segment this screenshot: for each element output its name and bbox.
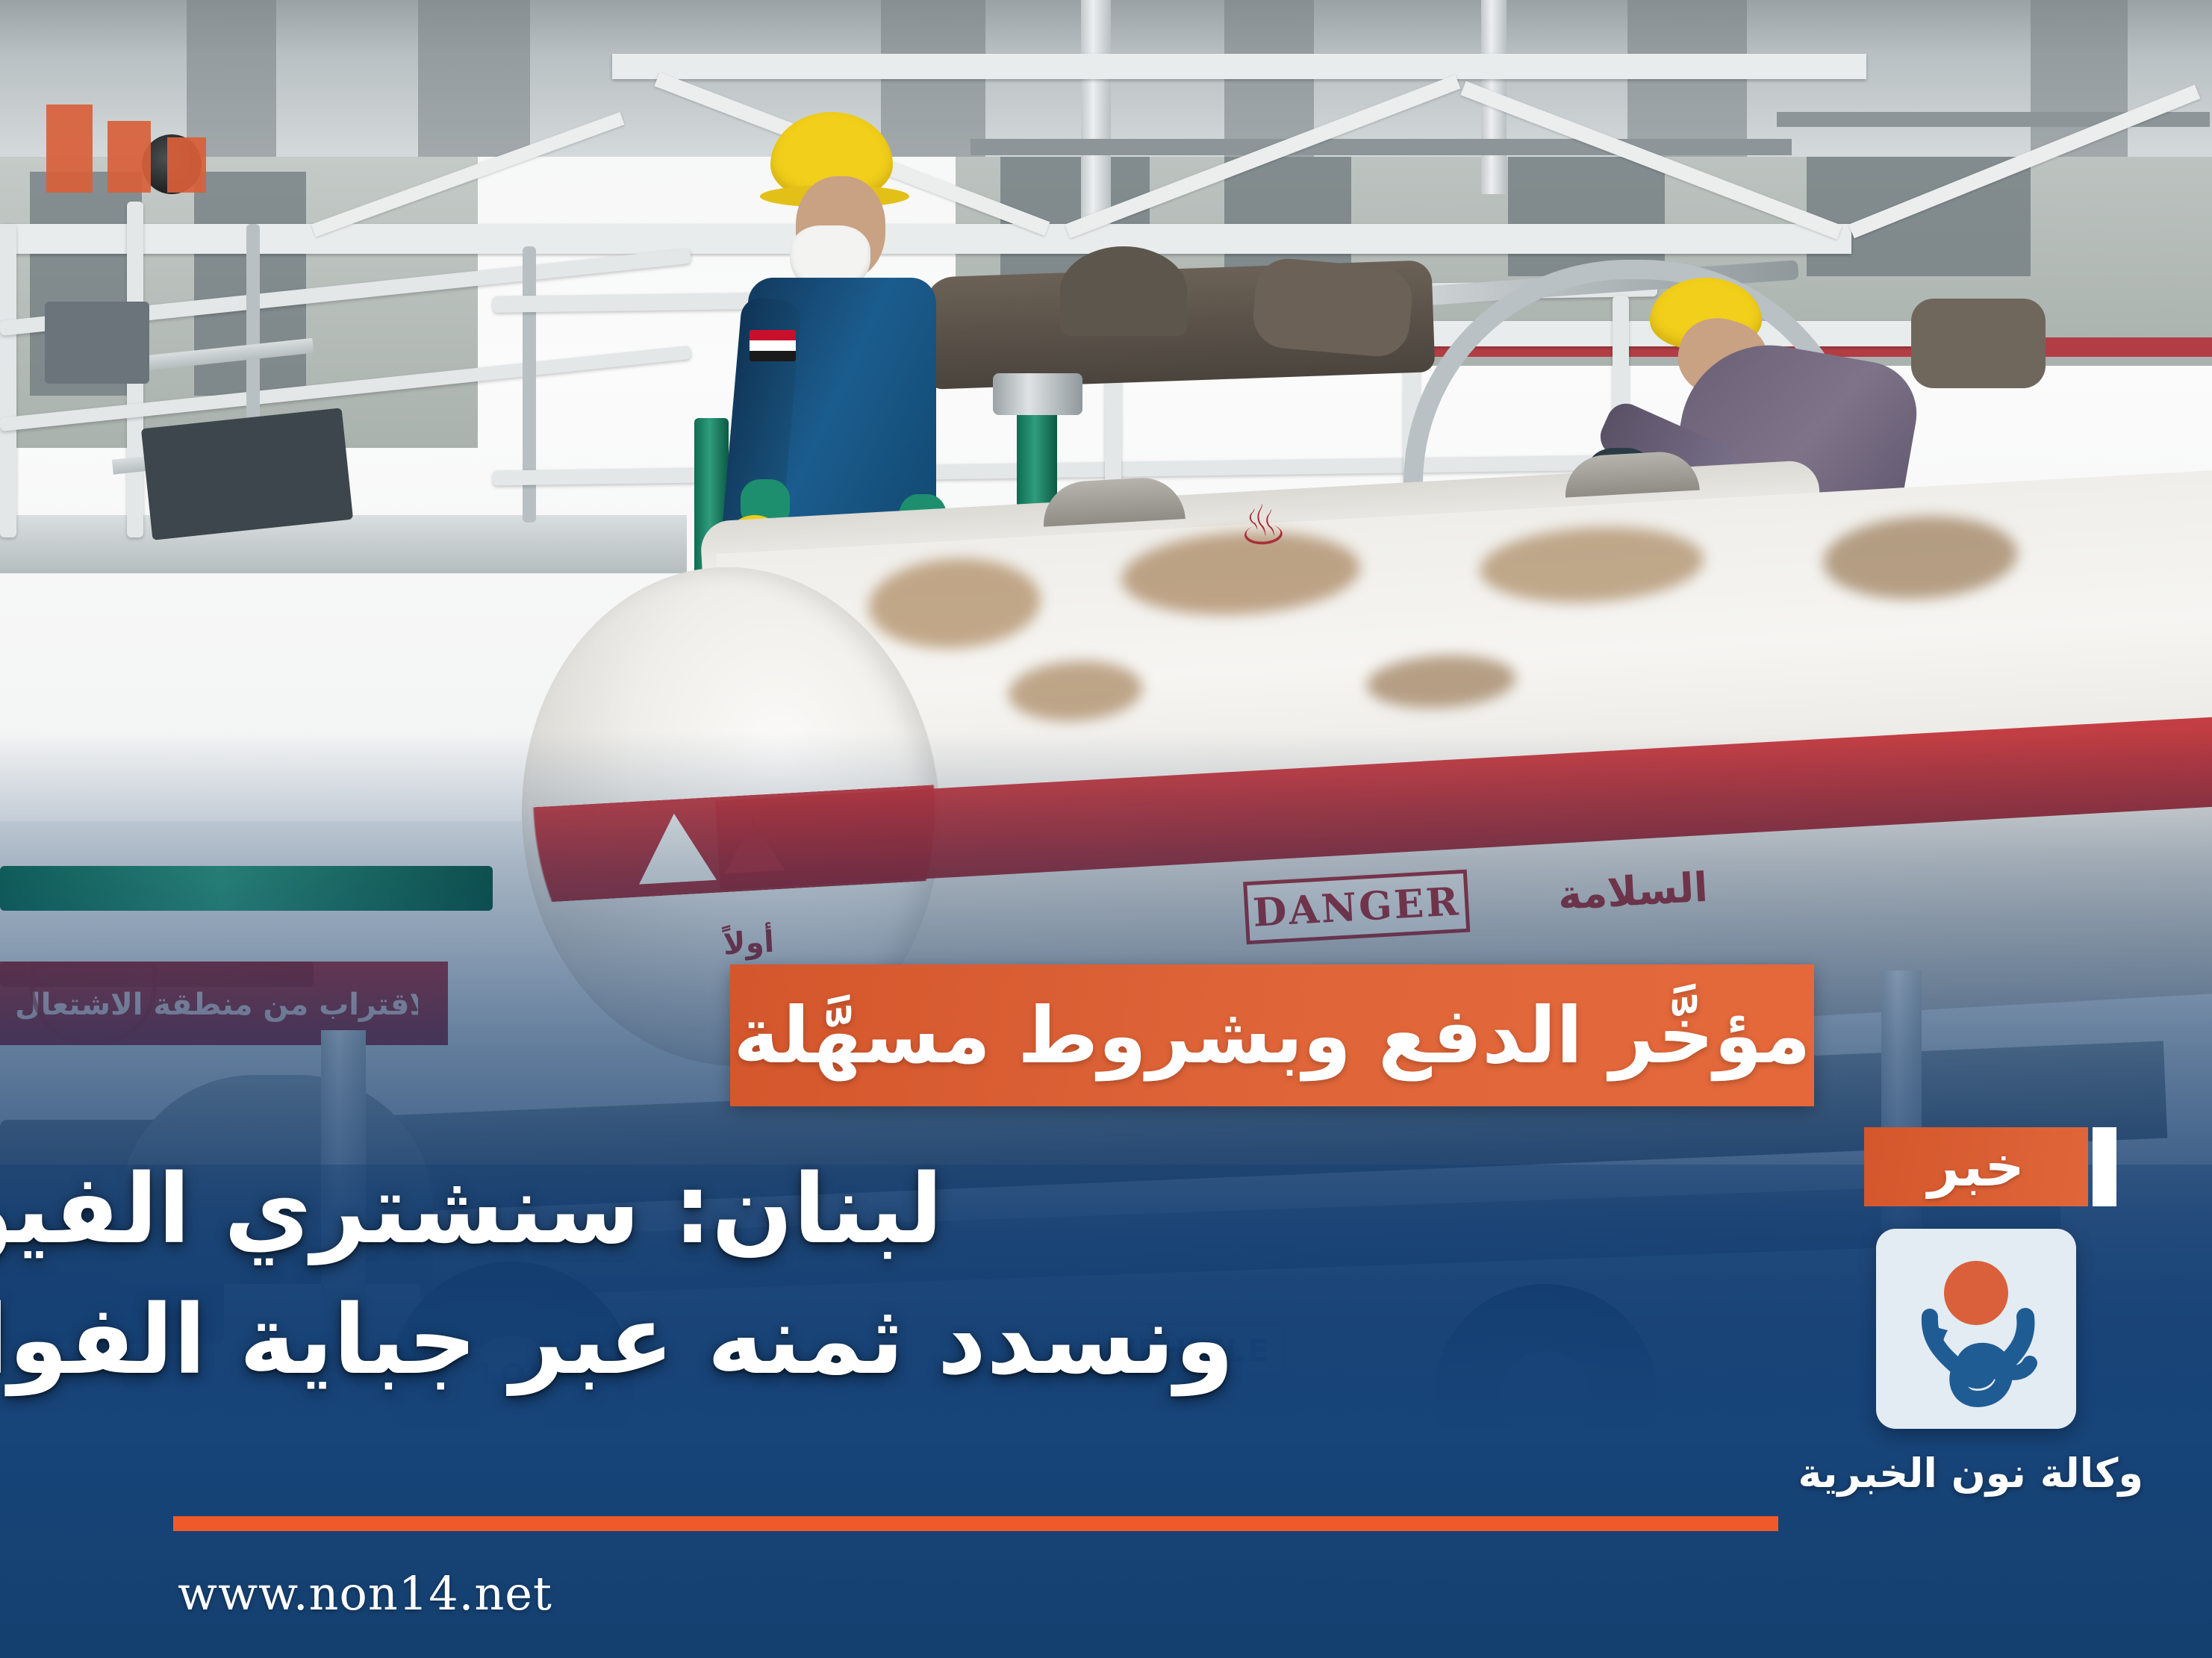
valve-assembly: [1060, 246, 1187, 336]
news-badge-label: خبر: [1864, 1127, 2088, 1206]
divider-rule: [173, 1516, 1778, 1531]
news-badge-accent-bar: [2093, 1127, 2116, 1206]
canopy-beam: [612, 54, 1866, 79]
equipment-box: [45, 302, 149, 384]
valve-assembly: [1250, 256, 1415, 359]
flammable-icon: ♨: [1237, 496, 1289, 555]
canopy-beam: [971, 139, 1792, 155]
logo-bar-1: [46, 105, 93, 193]
walkway-railing: [0, 224, 16, 537]
flag-patch: [750, 330, 796, 361]
canopy-slat: [418, 0, 530, 157]
agency-logo-tile[interactable]: [1876, 1229, 2076, 1429]
headline-line-1: لبنان: سنشتري الفيول العراقي بالدولار: [0, 1148, 943, 1272]
logo-bar-2: [108, 121, 151, 193]
brand-column: خبر وكالة نون الخبرية: [1815, 1127, 2166, 1497]
logo-bar-3: [167, 137, 206, 193]
agency-name: وكالة نون الخبرية: [1815, 1450, 2166, 1497]
kicker-text: مؤخَّر الدفع وبشروط مسهَّلة: [733, 997, 1810, 1074]
agency-logo-icon: [1876, 1229, 2076, 1429]
headline-line-2: ونسدد ثمنه عبر جباية الفواتير: [0, 1279, 1234, 1403]
site-url[interactable]: www.non14.net: [178, 1566, 552, 1621]
kicker-banner: مؤخَّر الدفع وبشروط مسهَّلة: [730, 964, 1814, 1106]
equipment-box: [141, 408, 353, 540]
news-badge: خبر: [1864, 1127, 2116, 1206]
grey-pipe: [993, 373, 1082, 415]
support-column: [1081, 0, 1111, 224]
non14-bars-logo-icon[interactable]: [46, 105, 203, 193]
news-card: ♨ DANGER أولاً السلامة LONG VEHICLE ممنو…: [0, 0, 2212, 1658]
